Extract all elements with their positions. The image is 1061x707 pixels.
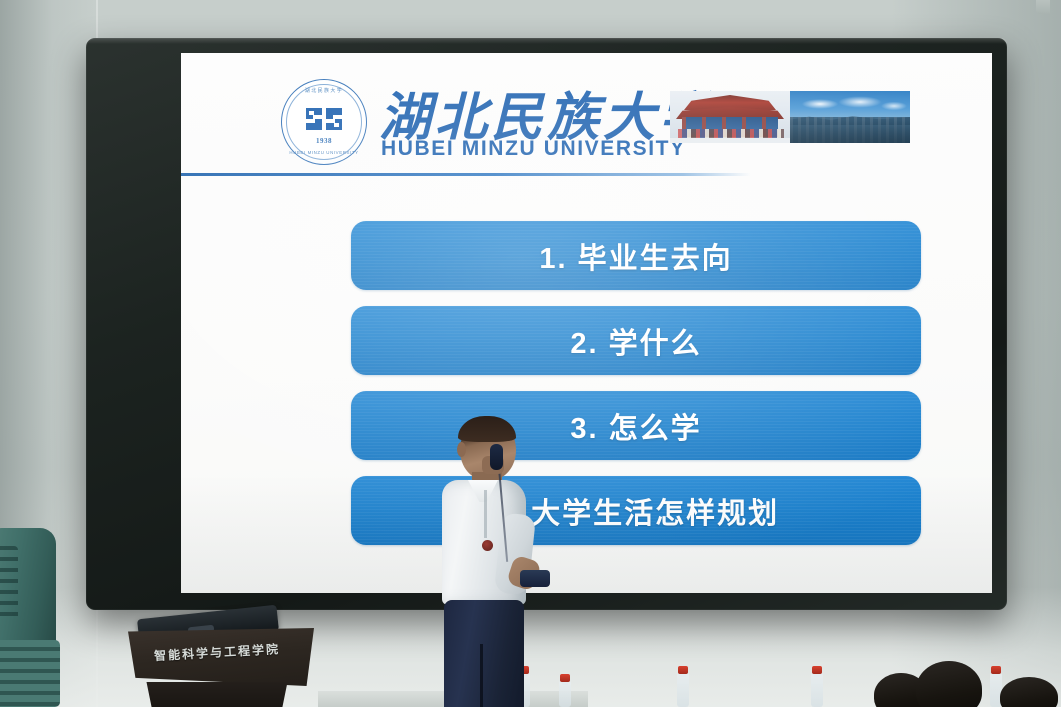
university-name-en: HUBEI MINZU UNIVERSITY: [381, 137, 686, 161]
bottle-cap: [678, 666, 688, 674]
slide-header: 湖北民族大学 1938 HUBEI MINZU UNIVERSITY 湖北民族大…: [181, 53, 992, 183]
stacked-chairs: [0, 528, 64, 707]
university-seal-icon: 湖北民族大学 1938 HUBEI MINZU UNIVERSITY: [281, 79, 367, 165]
bottle-cap: [560, 674, 570, 682]
presenter: [424, 418, 556, 707]
water-bottle: [811, 673, 823, 707]
podium-base: [142, 682, 292, 707]
lecture-hall-scene: 湖北民族大学 1938 HUBEI MINZU UNIVERSITY 湖北民族大…: [0, 0, 1061, 707]
bottle-cap: [991, 666, 1001, 674]
bottle-cap: [812, 666, 822, 674]
agenda-item-2: 2. 学什么: [351, 306, 921, 375]
presenter-legs: [444, 600, 524, 707]
header-photo-strip: [670, 91, 910, 143]
campus-cityscape: [790, 117, 910, 143]
seal-top-text: 湖北民族大学: [281, 87, 367, 94]
audience-head: [916, 661, 982, 707]
presenter-leg-split: [480, 644, 483, 707]
chair-stack: [0, 640, 60, 707]
ceiling-fitting: [1036, 0, 1050, 14]
agenda-item-1: 1. 毕业生去向: [351, 221, 921, 290]
agenda-item-1-label: 1. 毕业生去向: [539, 235, 732, 277]
campus-clouds: [790, 95, 910, 113]
seal-bottom-text: HUBEI MINZU UNIVERSITY: [281, 150, 367, 155]
water-bottle: [677, 673, 689, 707]
presenter-hair: [458, 416, 516, 442]
header-divider: [181, 173, 751, 176]
campus-aerial-photo: [790, 91, 910, 143]
agenda-item-3-label: 3. 怎么学: [570, 405, 701, 447]
campus-gate-photo: [670, 91, 790, 143]
seal-monogram-icon: [302, 102, 346, 136]
audience-head: [1000, 677, 1058, 707]
presentation-clicker: [520, 570, 550, 587]
podium: 智能科学与工程学院: [120, 612, 318, 707]
water-bottle: [559, 681, 571, 707]
handheld-microphone: [490, 444, 503, 470]
gate-ground: [670, 138, 790, 143]
presenter-ear: [457, 442, 466, 457]
agenda-item-2-label: 2. 学什么: [570, 320, 701, 362]
presenter-shirt-placket: [484, 490, 487, 538]
chair-slats: [0, 546, 18, 620]
seal-year: 1938: [281, 137, 367, 145]
presentation-slide: 湖北民族大学 1938 HUBEI MINZU UNIVERSITY 湖北民族大…: [181, 53, 992, 593]
presenter-badge: [482, 540, 493, 551]
